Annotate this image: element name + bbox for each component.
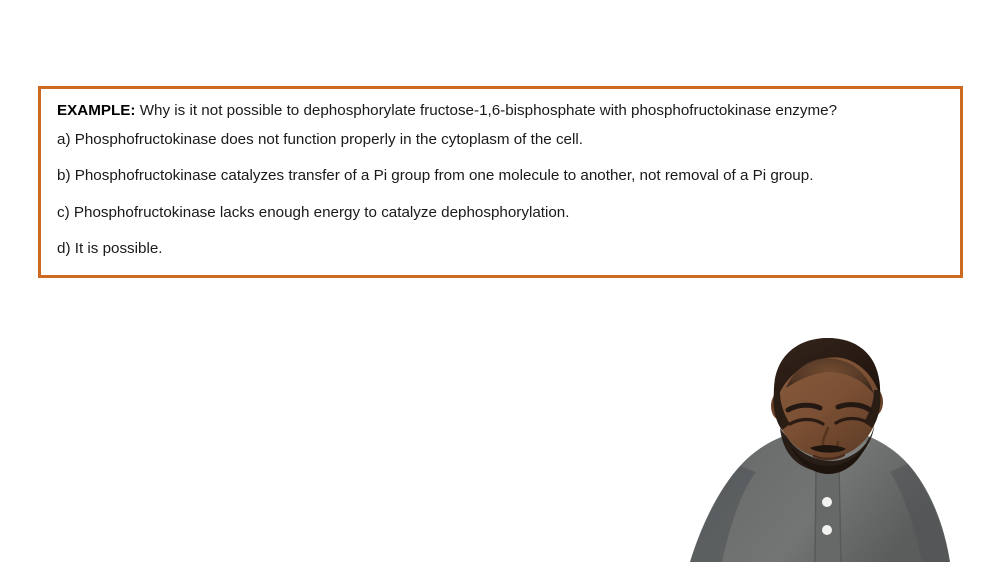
shirt-button-bottom [822, 525, 832, 535]
example-question-card: EXAMPLE: Why is it not possible to depho… [38, 86, 963, 278]
question-line: EXAMPLE: Why is it not possible to depho… [57, 103, 944, 118]
answer-option-b[interactable]: b) Phosphofructokinase catalyzes transfe… [57, 168, 944, 183]
shirt-button-top [822, 497, 832, 507]
presenter-figure [660, 336, 1000, 562]
answer-option-c[interactable]: c) Phosphofructokinase lacks enough ener… [57, 205, 944, 220]
question-text: Why is it not possible to dephosphorylat… [135, 102, 837, 119]
answer-option-d[interactable]: d) It is possible. [57, 241, 944, 256]
example-label: EXAMPLE: [57, 102, 135, 119]
placket-seam-left [815, 466, 816, 562]
shirt-placket [814, 464, 840, 562]
answer-option-a[interactable]: a) Phosphofructokinase does not function… [57, 132, 944, 147]
presenter-video-overlay [660, 336, 1000, 562]
